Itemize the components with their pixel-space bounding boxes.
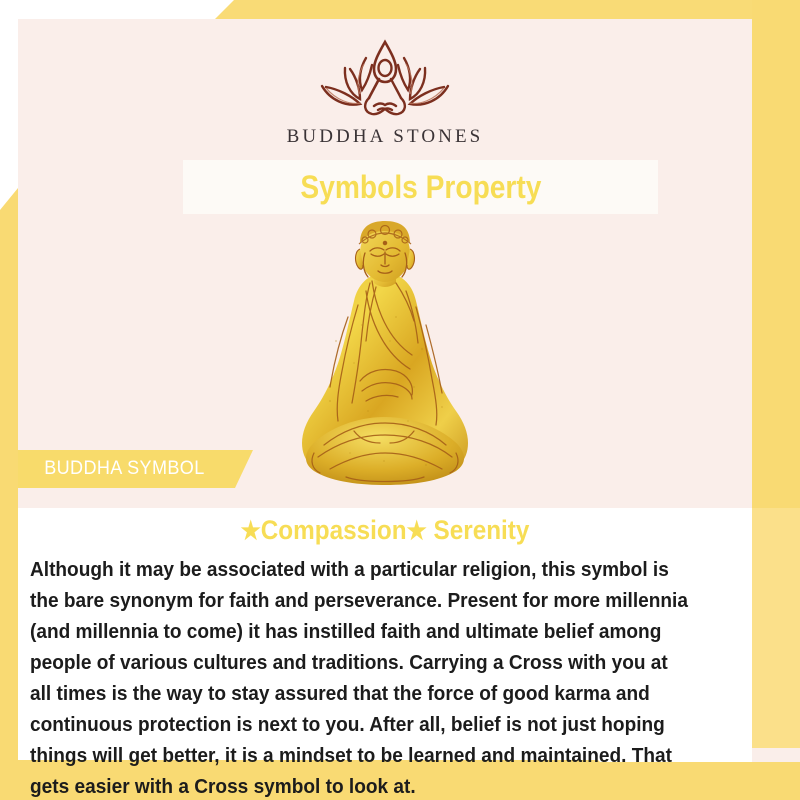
star-icon-left: ★ [241, 517, 261, 545]
buddha-symbol-banner-label: BUDDHA SYMBOL [44, 458, 204, 480]
hero-panel: BUDDHA STONES Symbols Property [18, 19, 752, 508]
article-subheading: ★Compassion★ Serenity [55, 515, 716, 546]
decor-bottom-right-pink [752, 748, 800, 762]
golden-seated-buddha-statue-icon [296, 221, 474, 509]
decor-right-yellow-strip [752, 0, 800, 508]
subheading-word-serenity: Serenity [434, 515, 530, 545]
buddha-symbol-banner: BUDDHA SYMBOL [18, 450, 253, 488]
poster-root: BUDDHA STONES Symbols Property [0, 0, 800, 800]
article-section: ★Compassion★ Serenity Although it may be… [18, 508, 752, 760]
brand-logo: BUDDHA STONES [18, 32, 752, 148]
page-title: Symbols Property [300, 169, 541, 206]
subheading-word-compassion: Compassion [261, 515, 407, 545]
decor-right-yellow-strip-lower [752, 508, 800, 748]
article-body: Although it may be associated with a par… [30, 554, 692, 800]
star-icon-right: ★ [407, 517, 427, 545]
decor-top-yellow-band [215, 0, 800, 19]
decor-left-yellow-strip [0, 188, 18, 763]
brand-name: BUDDHA STONES [287, 126, 484, 148]
page-title-bar: Symbols Property [183, 160, 658, 214]
lotus-meditation-figure-icon [300, 32, 470, 124]
